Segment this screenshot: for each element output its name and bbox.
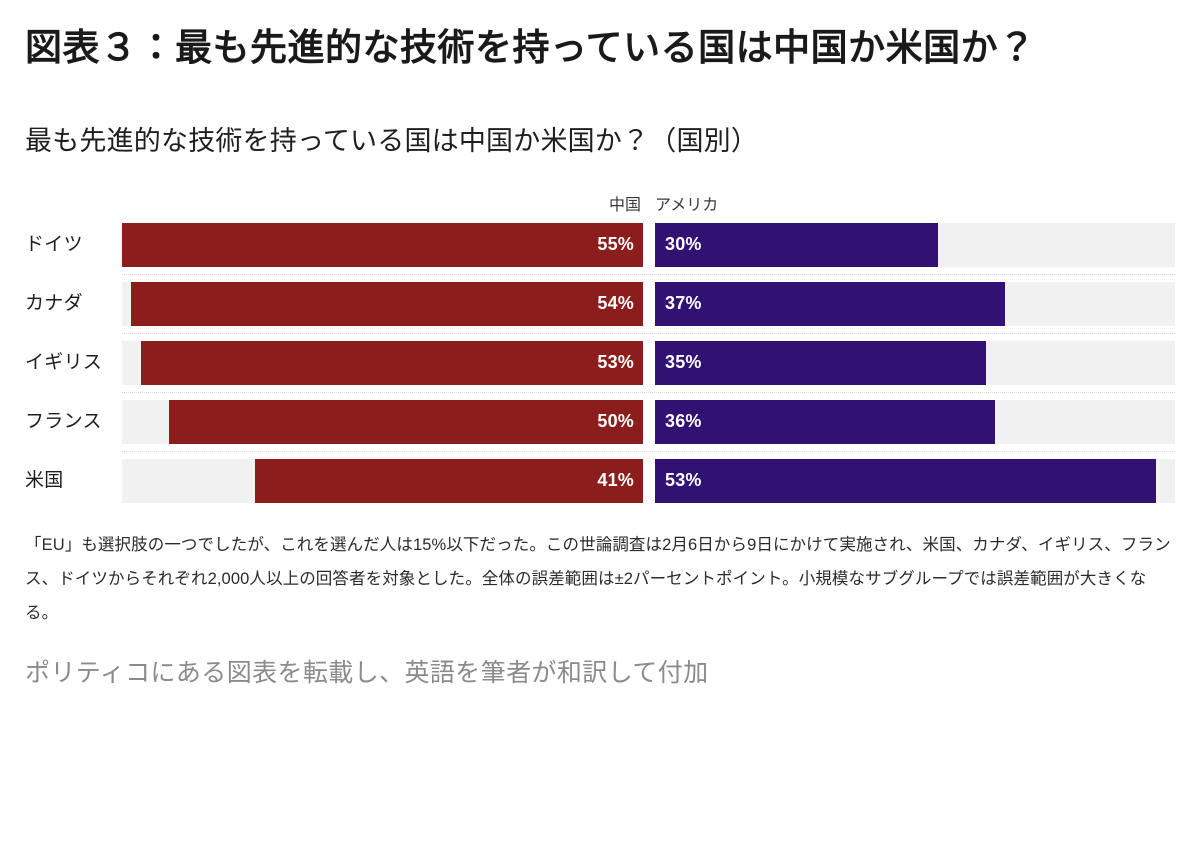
row-label-canada: カナダ (25, 294, 122, 313)
america-bar-canada: 37% (655, 282, 1005, 326)
america-track-germany: 30% (655, 223, 1175, 267)
america-bar-germany: 30% (655, 223, 938, 267)
china-bar-us: 41% (255, 459, 643, 503)
chart-legend: 中国 アメリカ (25, 191, 1175, 215)
legend-label-america: アメリカ (655, 191, 1175, 215)
center-gap (643, 223, 655, 267)
center-gap (643, 282, 655, 326)
america-bar-uk: 35% (655, 341, 986, 385)
chart-title: 最も先進的な技術を持っている国は中国か米国か？（国別） (25, 75, 1175, 159)
america-track-canada: 37% (655, 282, 1175, 326)
america-bar-us: 53% (655, 459, 1156, 503)
china-track-uk: 53% (122, 341, 643, 385)
america-bar-france: 36% (655, 400, 995, 444)
row-label-uk: イギリス (25, 353, 122, 372)
figure-page: 図表３：最も先進的な技術を持っている国は中国か米国か？ 最も先進的な技術を持って… (0, 0, 1200, 864)
table-row: 米国 41% 53% (25, 459, 1175, 503)
china-bar-germany: 55% (122, 223, 643, 267)
china-bar-canada: 54% (131, 282, 643, 326)
america-value-us: 53% (665, 470, 702, 491)
bar-chart: 中国 アメリカ ドイツ 55% 30% カナダ 54% (25, 191, 1175, 503)
america-track-us: 53% (655, 459, 1175, 503)
america-value-canada: 37% (665, 293, 702, 314)
china-value-germany: 55% (597, 234, 634, 255)
china-value-canada: 54% (597, 293, 634, 314)
page-title: 図表３：最も先進的な技術を持っている国は中国か米国か？ (25, 0, 1175, 75)
china-bar-france: 50% (169, 400, 643, 444)
china-track-france: 50% (122, 400, 643, 444)
china-track-us: 41% (122, 459, 643, 503)
china-value-france: 50% (597, 411, 634, 432)
table-row: フランス 50% 36% (25, 400, 1175, 444)
america-track-uk: 35% (655, 341, 1175, 385)
source-caption: ポリティコにある図表を転載し、英語を筆者が和訳して付加 (25, 630, 1175, 691)
center-gap (643, 400, 655, 444)
row-label-france: フランス (25, 412, 122, 431)
america-value-germany: 30% (665, 234, 702, 255)
table-row: イギリス 53% 35% (25, 341, 1175, 385)
america-value-uk: 35% (665, 352, 702, 373)
chart-footnote: 「EU」も選択肢の一つでしたが、これを選んだ人は15%以下だった。この世論調査は… (25, 503, 1175, 630)
america-track-france: 36% (655, 400, 1175, 444)
row-label-us: 米国 (25, 471, 122, 490)
america-value-france: 36% (665, 411, 702, 432)
china-value-uk: 53% (597, 352, 634, 373)
legend-label-china: 中国 (122, 191, 643, 215)
row-label-germany: ドイツ (25, 235, 122, 254)
china-value-us: 41% (597, 470, 634, 491)
china-track-germany: 55% (122, 223, 643, 267)
table-row: カナダ 54% 37% (25, 282, 1175, 326)
china-bar-uk: 53% (141, 341, 643, 385)
center-gap (643, 459, 655, 503)
china-track-canada: 54% (122, 282, 643, 326)
table-row: ドイツ 55% 30% (25, 223, 1175, 267)
center-gap (643, 341, 655, 385)
